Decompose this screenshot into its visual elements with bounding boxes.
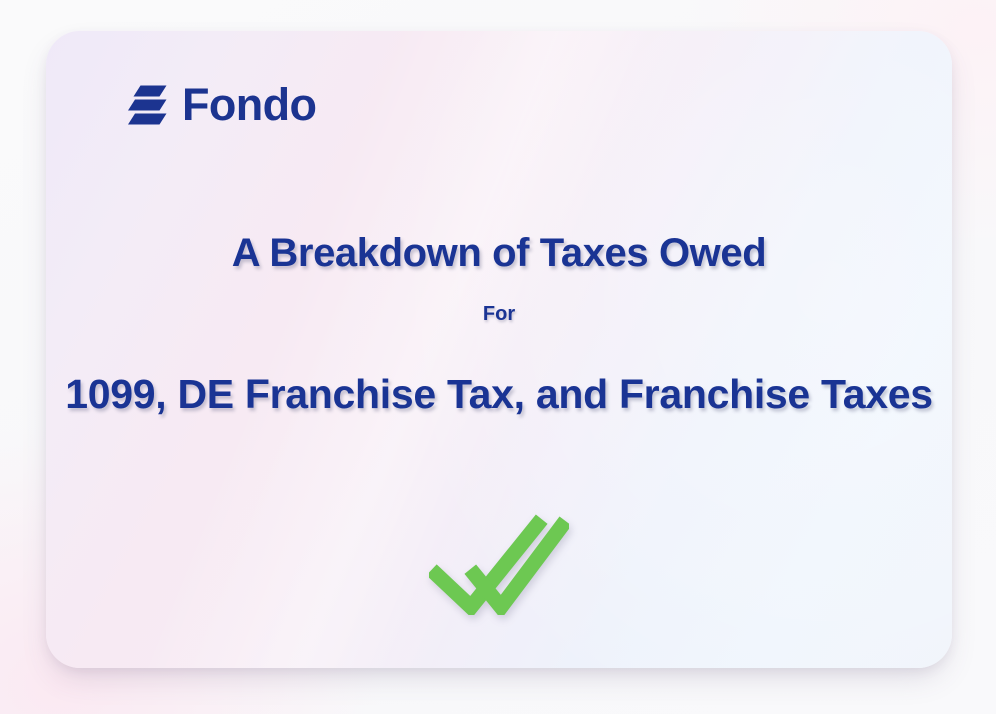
status-icon-row [46,511,952,615]
double-check-icon [429,511,569,615]
slide-canvas: Fondo A Breakdown of Taxes Owed For 1099… [0,0,996,714]
page-title: A Breakdown of Taxes Owed [46,231,952,276]
title-connector: For [46,303,952,326]
card-inner: Fondo A Breakdown of Taxes Owed For 1099… [46,31,952,668]
fondo-three-bars-logo-icon [126,83,168,127]
brand-name: Fondo [182,82,316,127]
page-subtitle: 1099, DE Franchise Tax, and Franchise Ta… [46,371,952,418]
content-card: Fondo A Breakdown of Taxes Owed For 1099… [46,31,952,668]
brand-lockup: Fondo [126,82,316,127]
